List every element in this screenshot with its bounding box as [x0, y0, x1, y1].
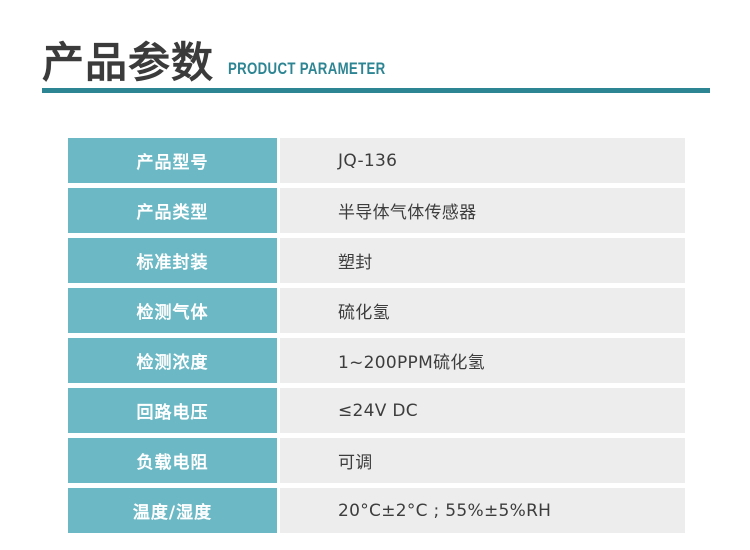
- spec-value: 20°C±2°C ; 55%±5%RH: [280, 488, 685, 533]
- page-subtitle: PRODUCT PARAMETER: [228, 59, 386, 79]
- table-row: 检测气体 硫化氢: [68, 288, 685, 333]
- table-row: 温度/湿度 20°C±2°C ; 55%±5%RH: [68, 488, 685, 533]
- page-title: 产品参数: [42, 42, 214, 84]
- table-row: 产品型号 JQ-136: [68, 138, 685, 183]
- spec-value: 1~200PPM硫化氢: [280, 338, 685, 383]
- product-parameter-page: 产品参数 PRODUCT PARAMETER 产品型号 JQ-136 产品类型 …: [0, 0, 750, 550]
- table-row: 回路电压 ≤24V DC: [68, 388, 685, 433]
- page-header: 产品参数 PRODUCT PARAMETER: [42, 26, 710, 96]
- header-divider: [42, 88, 710, 93]
- spec-value: 可调: [280, 438, 685, 483]
- spec-value: 硫化氢: [280, 288, 685, 333]
- header-titles: 产品参数 PRODUCT PARAMETER: [42, 26, 710, 84]
- spec-value: ≤24V DC: [280, 388, 685, 433]
- table-row: 检测浓度 1~200PPM硫化氢: [68, 338, 685, 383]
- table-row: 负载电阻 可调: [68, 438, 685, 483]
- spec-label: 产品类型: [68, 188, 277, 233]
- spec-label: 温度/湿度: [68, 488, 277, 533]
- spec-value: 塑封: [280, 238, 685, 283]
- spec-label: 标准封装: [68, 238, 277, 283]
- spec-label: 回路电压: [68, 388, 277, 433]
- spec-label: 产品型号: [68, 138, 277, 183]
- spec-label: 负载电阻: [68, 438, 277, 483]
- table-row: 标准封装 塑封: [68, 238, 685, 283]
- spec-table: 产品型号 JQ-136 产品类型 半导体气体传感器 标准封装 塑封 检测气体 硫…: [68, 138, 685, 533]
- spec-label: 检测浓度: [68, 338, 277, 383]
- table-row: 产品类型 半导体气体传感器: [68, 188, 685, 233]
- spec-value: 半导体气体传感器: [280, 188, 685, 233]
- spec-value: JQ-136: [280, 138, 685, 183]
- spec-label: 检测气体: [68, 288, 277, 333]
